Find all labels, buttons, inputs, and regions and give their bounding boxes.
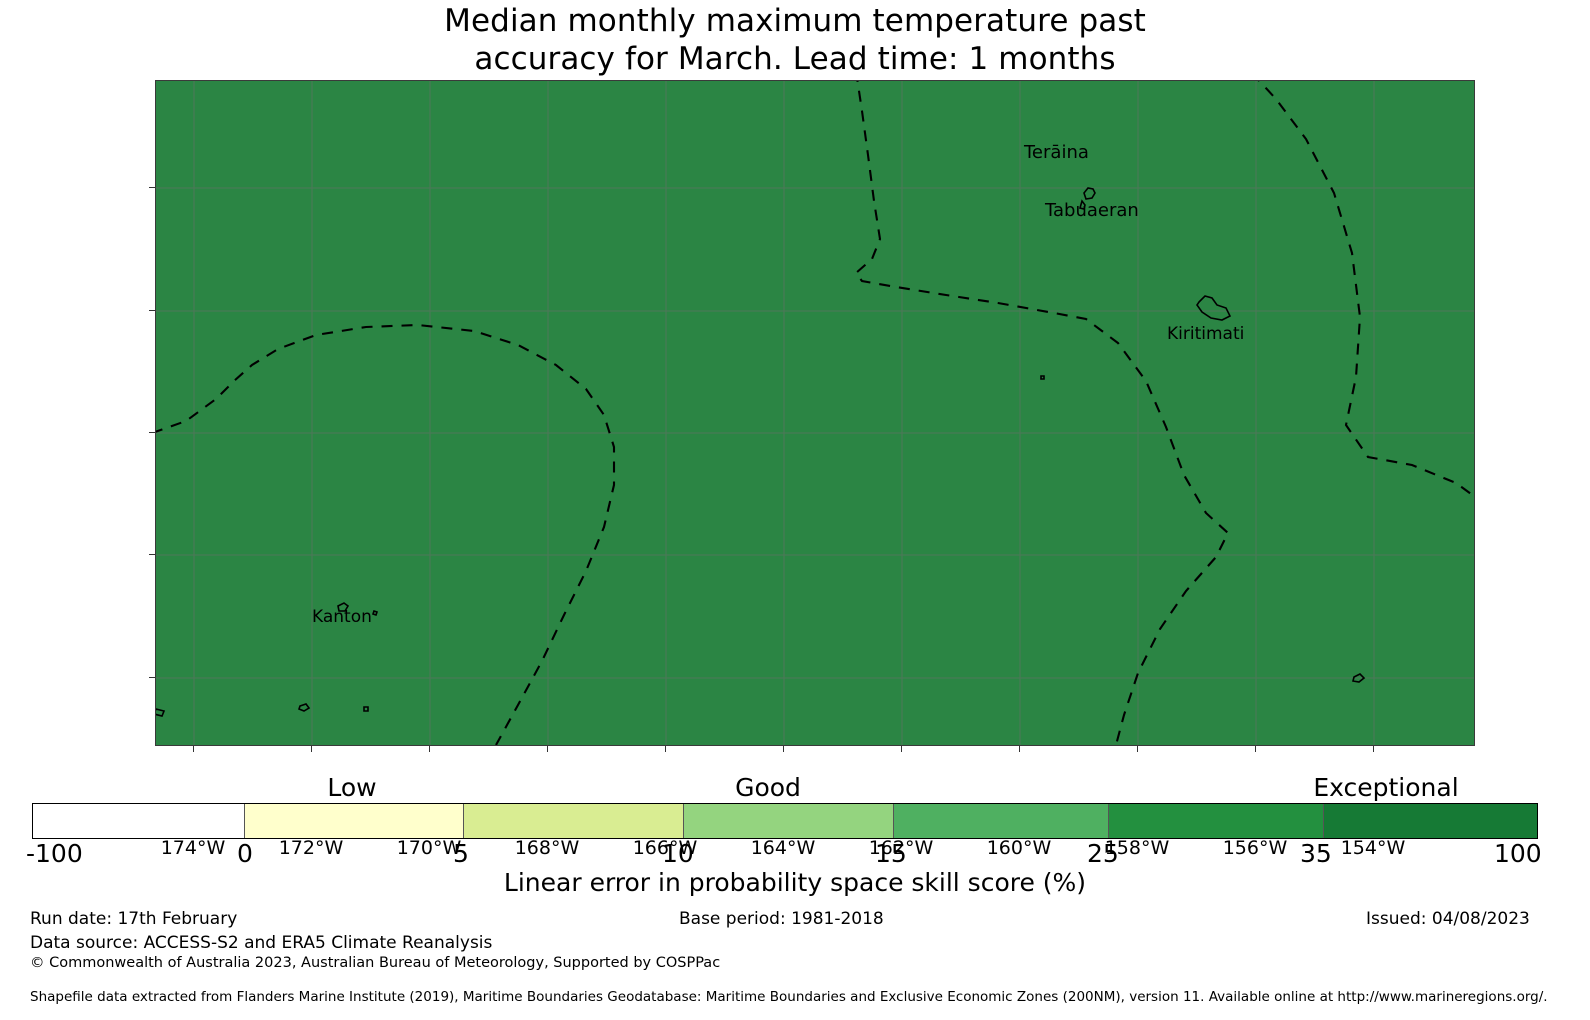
- eez-line-islands-west: [856, 81, 1228, 745]
- x-tick-mark: [1255, 746, 1256, 752]
- colorbar-tick-25: 25: [1087, 839, 1119, 868]
- colorbar-tick-labels: -100 0 5 10 15 25 35 100: [0, 839, 1590, 867]
- colorbar-tick-15: 15: [875, 839, 907, 868]
- colorbar-category-labels: Low Good Exceptional: [0, 773, 1590, 801]
- y-tick-mark: [149, 677, 155, 678]
- map-canvas: [155, 80, 1475, 746]
- footer-copyright: © Commonwealth of Australia 2023, Austra…: [30, 955, 720, 971]
- y-tick-mark: [149, 310, 155, 311]
- colorbar-tick-100: 100: [1494, 839, 1542, 868]
- place-label-kiritimati: Kiritimati: [1167, 324, 1244, 344]
- x-tick-mark: [193, 746, 194, 752]
- colorbar-segment-25-35: [1108, 804, 1323, 838]
- x-tick-mark: [429, 746, 430, 752]
- chart-title-line-1: Median monthly maximum temperature past: [0, 2, 1590, 40]
- map-vector-layer: [156, 81, 1474, 745]
- x-tick-mark: [1019, 746, 1020, 752]
- x-tick-mark: [1137, 746, 1138, 752]
- footer-data-source: Data source: ACCESS-S2 and ERA5 Climate …: [30, 933, 492, 953]
- colorbar-category-good: Good: [735, 773, 801, 802]
- colorbar-axis-label: Linear error in probability space skill …: [0, 868, 1590, 897]
- footer-issued-date: Issued: 04/08/2023: [1366, 909, 1530, 929]
- place-label-teraina: Terāina: [1024, 142, 1089, 163]
- y-tick-mark: [149, 554, 155, 555]
- island-islet-center: [1041, 376, 1044, 379]
- eez-line-islands-east: [1252, 81, 1474, 499]
- y-tick-mark: [149, 187, 155, 188]
- island-islet-far-west: [156, 709, 164, 716]
- y-tick-mark: [149, 432, 155, 433]
- colorbar-segment-10-15: [683, 804, 894, 838]
- footer-base-period: Base period: 1981-2018: [679, 909, 884, 929]
- island-teraina: [1084, 188, 1095, 199]
- colorbar-tick-0: 0: [237, 839, 253, 868]
- x-tick-mark: [311, 746, 312, 752]
- x-tick-mark: [1373, 746, 1374, 752]
- footer-run-date: Run date: 17th February: [30, 909, 237, 929]
- colorbar-segment-35-100: [1323, 804, 1537, 838]
- colorbar-category-low: Low: [327, 773, 376, 802]
- x-tick-mark: [901, 746, 902, 752]
- place-label-kanton: Kanton: [312, 607, 372, 627]
- colorbar-segment-15-25: [893, 804, 1108, 838]
- island-kiritimati: [1197, 296, 1230, 320]
- island-islet-sw-a: [299, 704, 309, 711]
- footer: Run date: 17th February Data source: ACC…: [0, 905, 1590, 1020]
- eez-phoenix-arc: [156, 325, 614, 745]
- footer-shapefile-attribution: Shapefile data extracted from Flanders M…: [30, 989, 1548, 1005]
- graticule-grid: [156, 81, 1474, 745]
- colorbar-tick-10: 10: [662, 839, 694, 868]
- place-label-tabuaeran: Tabuaeran: [1045, 200, 1139, 221]
- colorbar-segment-5-10: [463, 804, 683, 838]
- map-panel: 4°N 2°N 0° 2°S 4°S 174°W 172°W 170°W 168…: [155, 80, 1475, 746]
- colorbar-category-exceptional: Exceptional: [1313, 773, 1458, 802]
- island-enderbury: [373, 611, 377, 615]
- eez-boundary-lines: [156, 81, 1474, 745]
- colorbar-segment-neg100-0: [33, 804, 244, 838]
- chart-title-line-2: accuracy for March. Lead time: 1 months: [0, 40, 1590, 78]
- x-tick-mark: [547, 746, 548, 752]
- island-islet-sw-b: [364, 707, 368, 711]
- colorbar-tick-35: 35: [1300, 839, 1332, 868]
- colorbar[interactable]: [32, 803, 1538, 839]
- colorbar-segment-0-5: [244, 804, 464, 838]
- chart-title: Median monthly maximum temperature past …: [0, 0, 1590, 78]
- colorbar-tick-neg100: -100: [26, 839, 83, 868]
- x-tick-mark: [665, 746, 666, 752]
- x-tick-mark: [783, 746, 784, 752]
- colorbar-tick-5: 5: [453, 839, 469, 868]
- island-outlines: [156, 188, 1364, 716]
